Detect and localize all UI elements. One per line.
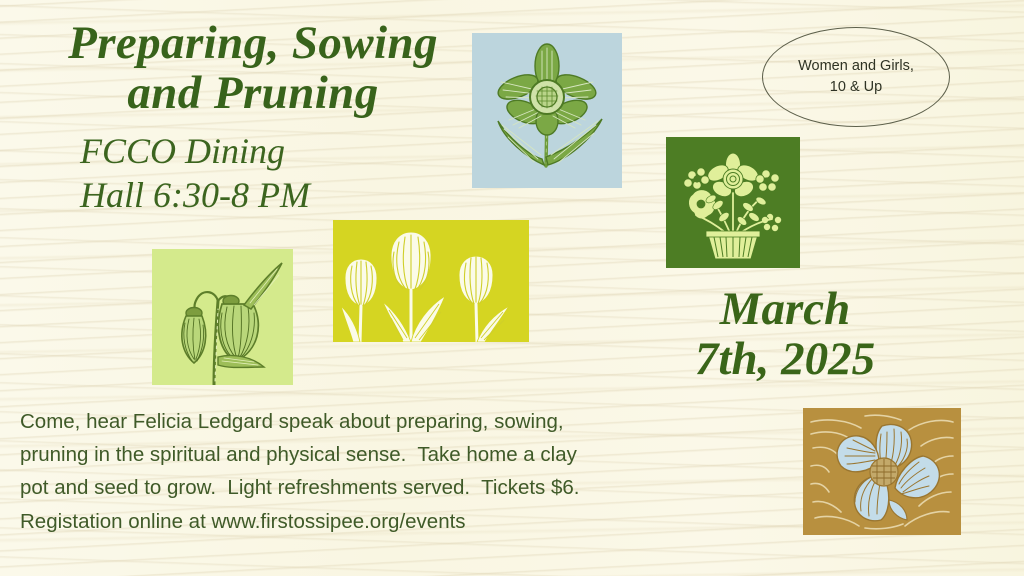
tulips-linocut-image [333, 220, 529, 342]
venue-and-time: FCCO Dining Hall 6:30-8 PM [80, 130, 500, 218]
headline-line-1: Preparing, Sowing [18, 18, 488, 68]
venue-line-2: Hall 6:30-8 PM [80, 174, 500, 218]
event-date-line-1: March [660, 285, 910, 335]
description-line-4: Registation online at www.firstossipee.o… [20, 505, 640, 538]
audience-badge-line-2: 10 & Up [830, 77, 882, 98]
description-line-3: pot and seed to grow. Light refreshments… [20, 471, 640, 504]
description-line-2: pruning in the spiritual and physical se… [20, 438, 640, 471]
audience-badge: Women and Girls, 10 & Up [762, 27, 950, 127]
event-flyer: Preparing, Sowing and Pruning FCCO Dinin… [0, 0, 1024, 576]
description-line-1: Come, hear Felicia Ledgard speak about p… [20, 405, 640, 438]
audience-badge-line-1: Women and Girls, [798, 56, 914, 77]
event-description: Come, hear Felicia Ledgard speak about p… [20, 405, 640, 538]
bouquet-linocut-image [666, 137, 800, 268]
flyer-headline: Preparing, Sowing and Pruning [18, 18, 488, 119]
dogwood-linocut-image [803, 408, 961, 535]
venue-line-1: FCCO Dining [80, 130, 500, 174]
snowdrop-linocut-image [152, 249, 293, 385]
event-date: March 7th, 2025 [660, 285, 910, 385]
headline-line-2: and Pruning [18, 68, 488, 118]
event-date-line-2: 7th, 2025 [660, 335, 910, 385]
